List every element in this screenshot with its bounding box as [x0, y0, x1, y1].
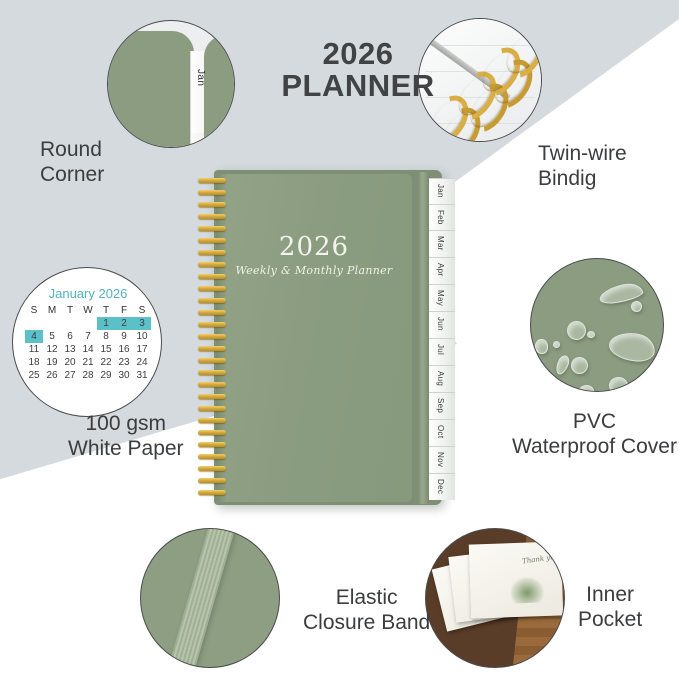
spiral-ring — [198, 334, 226, 339]
calendar-day: 23 — [115, 356, 133, 369]
calendar-day — [25, 317, 43, 330]
calendar-day: 19 — [43, 356, 61, 369]
calendar-day: 13 — [61, 343, 79, 356]
spiral-ring — [198, 430, 226, 435]
weekday-header: S — [25, 304, 43, 317]
calendar-day-highlighted: 2 — [115, 317, 133, 330]
calendar-day: 31 — [133, 369, 151, 382]
calendar-day: 29 — [97, 369, 115, 382]
month-tab-feb[interactable]: Feb — [429, 204, 455, 230]
calendar-day: 30 — [115, 369, 133, 382]
calendar-day: 26 — [43, 369, 61, 382]
spiral-ring — [198, 274, 226, 279]
calendar-day: 9 — [115, 330, 133, 343]
calendar-widget: January 2026 S M T W T F S — [13, 286, 162, 382]
spiral-ring — [198, 286, 226, 291]
month-tab-label: Jan — [436, 184, 445, 198]
spiral-ring — [198, 226, 226, 231]
month-tab-jun[interactable]: Jun — [429, 311, 455, 338]
calendar-day: 7 — [79, 330, 97, 343]
month-tab-label: May — [436, 290, 445, 306]
calendar-day: 22 — [97, 356, 115, 369]
calendar-week-row: 1 2 3 — [25, 317, 151, 330]
calendar-day: 28 — [79, 369, 97, 382]
feature-label-white-paper: 100 gsm White Paper — [68, 412, 184, 462]
calendar-day: 18 — [25, 356, 43, 369]
cover-subtitle-text: Weekly & Monthly Planner — [216, 264, 412, 277]
elastic-label-line2: Closure Band — [303, 611, 430, 636]
spiral-ring — [198, 466, 226, 471]
cover-corner-overlap — [204, 35, 235, 148]
water-droplet-icon — [631, 383, 638, 390]
month-tab-label: Feb — [436, 210, 445, 225]
elastic-strap-icon — [161, 528, 238, 668]
spiral-ring — [198, 190, 226, 195]
weekday-header: F — [115, 304, 133, 317]
page-title: 2026 PLANNER — [268, 38, 448, 102]
elastic-label-line1: Elastic — [303, 586, 430, 611]
feature-label-inner-pocket: Inner Pocket — [578, 583, 642, 633]
callout-inner-pocket: Thank you — [425, 528, 565, 668]
calendar-day: 24 — [133, 356, 151, 369]
spiral-ring — [198, 178, 226, 183]
month-tab-label: Jul — [436, 344, 445, 355]
calendar-day: 27 — [61, 369, 79, 382]
calendar-day-highlighted: 1 — [97, 317, 115, 330]
calendar-header-row: S M T W T F S — [25, 304, 151, 317]
month-tab-aug[interactable]: Aug — [429, 365, 455, 392]
month-tab-label: Jun — [436, 317, 445, 331]
month-tab-may[interactable]: May — [429, 284, 455, 311]
water-droplet-icon — [587, 331, 595, 338]
spiral-ring — [198, 442, 226, 447]
paper-label-line2: White Paper — [68, 437, 184, 462]
spiral-ring — [198, 418, 226, 423]
spiral-ring — [198, 454, 226, 459]
book-front-cover — [216, 174, 412, 502]
callout-elastic-closure-band — [140, 528, 280, 668]
spiral-ring — [198, 406, 226, 411]
botanical-motif-icon — [509, 576, 544, 604]
calendar-week-row: 18 19 20 21 22 23 24 — [25, 356, 151, 369]
calendar-week-row: 11 12 13 14 15 16 17 — [25, 343, 151, 356]
month-tab-label: Aug — [436, 371, 445, 386]
spiral-ring — [198, 394, 226, 399]
month-tab-divider-column: Jan Feb Mar Apr May Jun Jul Aug Sep Oct … — [429, 178, 455, 498]
title-planner: PLANNER — [268, 70, 448, 102]
month-tab-nov[interactable]: Nov — [429, 446, 455, 473]
paper-label-line1: 100 gsm — [68, 412, 184, 437]
spiral-ring — [198, 202, 226, 207]
water-droplet-icon — [631, 301, 642, 312]
calendar-day: 16 — [115, 343, 133, 356]
spiral-binding — [196, 178, 230, 498]
calendar-day: 10 — [133, 330, 151, 343]
water-droplet-icon — [554, 354, 572, 377]
spiral-ring — [198, 298, 226, 303]
water-droplet-icon — [553, 341, 560, 348]
month-tab-apr[interactable]: Apr — [429, 257, 455, 284]
weekday-header: T — [61, 304, 79, 317]
spiral-ring — [198, 370, 226, 375]
pocket-label-line2: Pocket — [578, 608, 642, 633]
weekday-header: W — [79, 304, 97, 317]
calendar-day: 8 — [97, 330, 115, 343]
calendar-day: 20 — [61, 356, 79, 369]
spiral-ring — [198, 490, 226, 495]
callout-pvc-waterproof-cover — [530, 258, 664, 392]
calendar-day: 12 — [43, 343, 61, 356]
water-droplet-icon — [608, 331, 657, 364]
calendar-day: 14 — [79, 343, 97, 356]
round-corner-tab-label-feb: Feb — [195, 141, 206, 148]
elastic-closure-band-on-book — [418, 172, 429, 504]
calendar-day: 11 — [25, 343, 43, 356]
calendar-day: 5 — [43, 330, 61, 343]
spiral-ring — [198, 346, 226, 351]
feature-label-round-corner: Round Corner — [40, 138, 104, 188]
spiral-ring — [198, 310, 226, 315]
calendar-day — [43, 317, 61, 330]
water-droplet-icon — [567, 321, 586, 340]
month-tab-label: Mar — [436, 236, 445, 251]
pvc-label-line1: PVC — [512, 410, 677, 435]
spiral-ring — [198, 238, 226, 243]
calendar-day — [61, 317, 79, 330]
calendar-month-title: January 2026 — [13, 286, 162, 301]
water-droplet-icon — [609, 377, 628, 392]
feature-label-pvc-cover: PVC Waterproof Cover — [512, 410, 677, 460]
calendar-day: 6 — [61, 330, 79, 343]
product-infographic: 2026 PLANNER Jan Feb Round Corner Twin-w… — [0, 0, 679, 680]
round-corner-tab-label-jan: Jan — [195, 69, 206, 86]
month-tab-label: Nov — [436, 452, 445, 467]
month-tab-dec[interactable]: Dec — [429, 473, 455, 500]
month-tab-sep[interactable]: Sep — [429, 392, 455, 419]
water-droplet-icon — [579, 385, 594, 392]
water-droplet-icon — [571, 357, 588, 374]
month-tab-label: Oct — [436, 425, 445, 438]
calendar-table: S M T W T F S 1 — [25, 304, 151, 382]
feature-label-twin-wire-binding: Twin-wire Bindig — [538, 142, 627, 192]
spiral-ring — [198, 214, 226, 219]
calendar-week-row: 4 5 6 7 8 9 10 — [25, 330, 151, 343]
month-tab-label: Sep — [436, 398, 445, 413]
month-tab-label: Dec — [436, 479, 445, 494]
spiral-ring — [198, 262, 226, 267]
cover-year-text: 2026 — [216, 232, 412, 262]
calendar-day-highlighted: 4 — [25, 330, 43, 343]
month-tab-jan[interactable]: Jan — [429, 178, 455, 204]
month-tab-mar[interactable]: Mar — [429, 230, 455, 257]
planner-product-image: 2026 Weekly & Monthly Planner — [196, 170, 456, 505]
weekday-header: T — [97, 304, 115, 317]
spiral-ring — [198, 382, 226, 387]
callout-white-paper-calendar: January 2026 S M T W T F S — [12, 267, 162, 417]
calendar-day: 25 — [25, 369, 43, 382]
weekday-header: S — [133, 304, 151, 317]
twin-wire-label-line2: Bindig — [538, 167, 627, 192]
title-year: 2026 — [268, 38, 448, 70]
feature-label-elastic-band: Elastic Closure Band — [303, 586, 430, 636]
calendar-day: 17 — [133, 343, 151, 356]
month-tab-jul[interactable]: Jul — [429, 338, 455, 365]
calendar-week-row: 25 26 27 28 29 30 31 — [25, 369, 151, 382]
spiral-ring — [198, 358, 226, 363]
callout-round-corner: Jan Feb — [107, 20, 235, 148]
calendar-day: 15 — [97, 343, 115, 356]
spiral-ring — [198, 250, 226, 255]
spiral-ring — [198, 478, 226, 483]
calendar-day: 21 — [79, 356, 97, 369]
month-tab-label: Apr — [436, 263, 445, 276]
twin-wire-label-line1: Twin-wire — [538, 142, 627, 167]
pvc-label-line2: Waterproof Cover — [512, 435, 677, 460]
pocket-label-line1: Inner — [578, 583, 642, 608]
calendar-day — [79, 317, 97, 330]
cover-corner-shape — [107, 31, 194, 148]
round-corner-label-line2: Corner — [40, 163, 104, 188]
spiral-ring — [198, 322, 226, 327]
round-corner-label-line1: Round — [40, 138, 104, 163]
month-tab-oct[interactable]: Oct — [429, 419, 455, 446]
calendar-day-highlighted: 3 — [133, 317, 151, 330]
weekday-header: M — [43, 304, 61, 317]
water-droplet-icon — [535, 339, 548, 354]
